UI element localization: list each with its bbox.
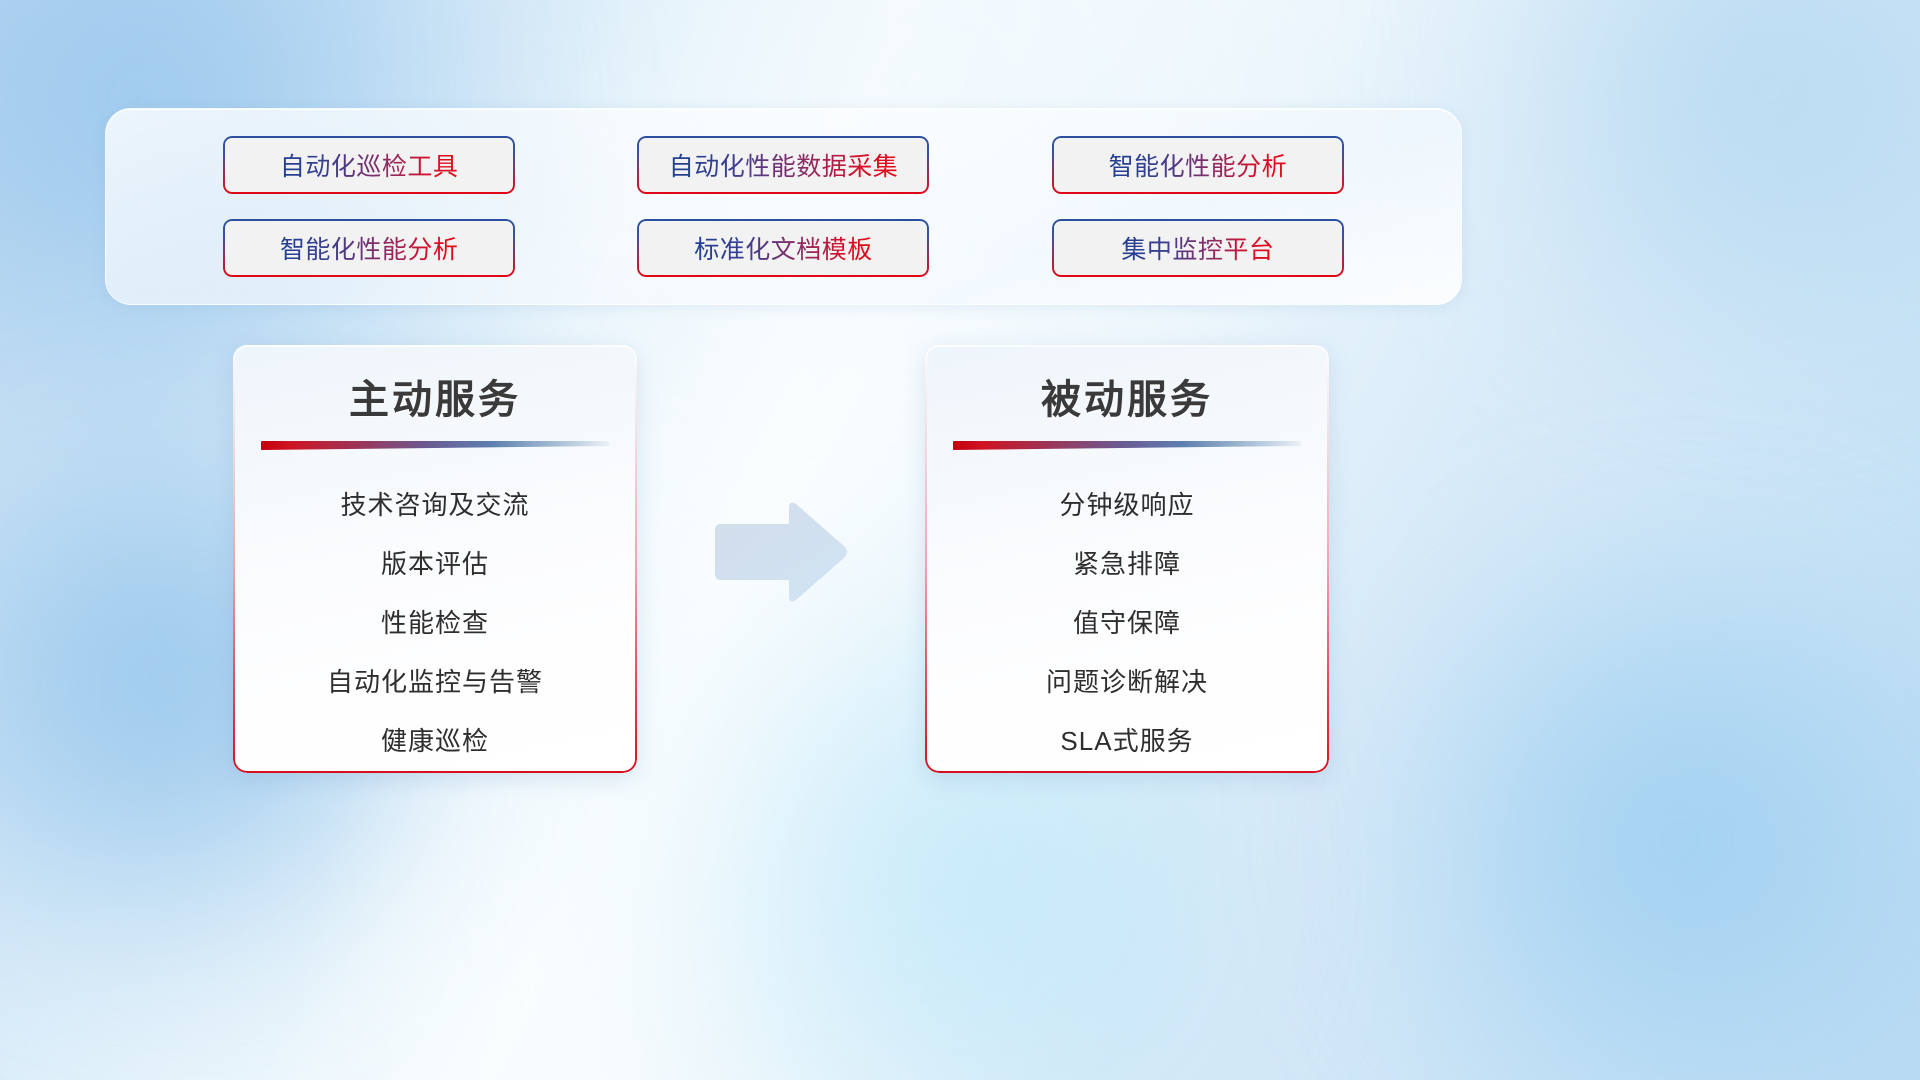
capability-tag-panel: 自动化巡检工具 自动化性能数据采集 智能化性能分析 智能化性能分析 标准化文档模…: [105, 108, 1462, 305]
reactive-card-title: 被动服务: [1041, 367, 1213, 425]
capability-tag-label: 智能化性能分析: [280, 230, 459, 266]
list-item: 性能检查: [381, 594, 489, 653]
capability-tag[interactable]: 智能化性能分析: [1052, 136, 1344, 194]
capability-tag-label: 自动化性能数据采集: [669, 147, 899, 183]
background-blob-top-right: [1420, 0, 1920, 370]
capability-tag[interactable]: 标准化文档模板: [637, 219, 929, 277]
list-item: 技术咨询及交流: [340, 476, 529, 535]
diagram-canvas: 自动化巡检工具 自动化性能数据采集 智能化性能分析 智能化性能分析 标准化文档模…: [0, 0, 1920, 1080]
list-item: 自动化监控与告警: [327, 653, 543, 712]
reactive-service-card[interactable]: 被动服务 分钟级响应 紧急排障 值守保障 问题诊断解决 SLA式服务: [925, 345, 1329, 773]
capability-tag[interactable]: 智能化性能分析: [223, 219, 515, 277]
proactive-service-list: 技术咨询及交流 版本评估 性能检查 自动化监控与告警 健康巡检: [233, 476, 637, 771]
background-blob-right: [1300, 520, 1920, 1080]
list-item: 分钟级响应: [1059, 476, 1194, 535]
reactive-service-list: 分钟级响应 紧急排障 值守保障 问题诊断解决 SLA式服务: [925, 476, 1329, 771]
capability-tag[interactable]: 集中监控平台: [1052, 219, 1344, 277]
proactive-card-divider: [261, 441, 609, 450]
reactive-card-divider: [953, 441, 1301, 450]
list-item: SLA式服务: [1060, 712, 1193, 771]
proactive-card-title: 主动服务: [349, 367, 521, 425]
list-item: 问题诊断解决: [1046, 653, 1208, 712]
list-item: 版本评估: [381, 535, 489, 594]
list-item: 健康巡检: [381, 712, 489, 771]
capability-tag[interactable]: 自动化性能数据采集: [637, 136, 929, 194]
arrow-right-icon: [711, 497, 851, 607]
list-item: 值守保障: [1073, 594, 1181, 653]
capability-tag-label: 集中监控平台: [1121, 230, 1274, 266]
capability-tag-label: 自动化巡检工具: [280, 147, 459, 183]
proactive-card-content: 主动服务 技术咨询及交流 版本评估 性能检查 自动化监控与告警 健康巡检: [233, 345, 637, 773]
capability-tag-label: 智能化性能分析: [1109, 147, 1288, 183]
reactive-card-content: 被动服务 分钟级响应 紧急排障 值守保障 问题诊断解决 SLA式服务: [925, 345, 1329, 773]
capability-tag[interactable]: 自动化巡检工具: [223, 136, 515, 194]
capability-tag-label: 标准化文档模板: [694, 230, 873, 266]
list-item: 紧急排障: [1073, 535, 1181, 594]
proactive-service-card[interactable]: 主动服务 技术咨询及交流 版本评估 性能检查 自动化监控与告警 健康巡检: [233, 345, 637, 773]
